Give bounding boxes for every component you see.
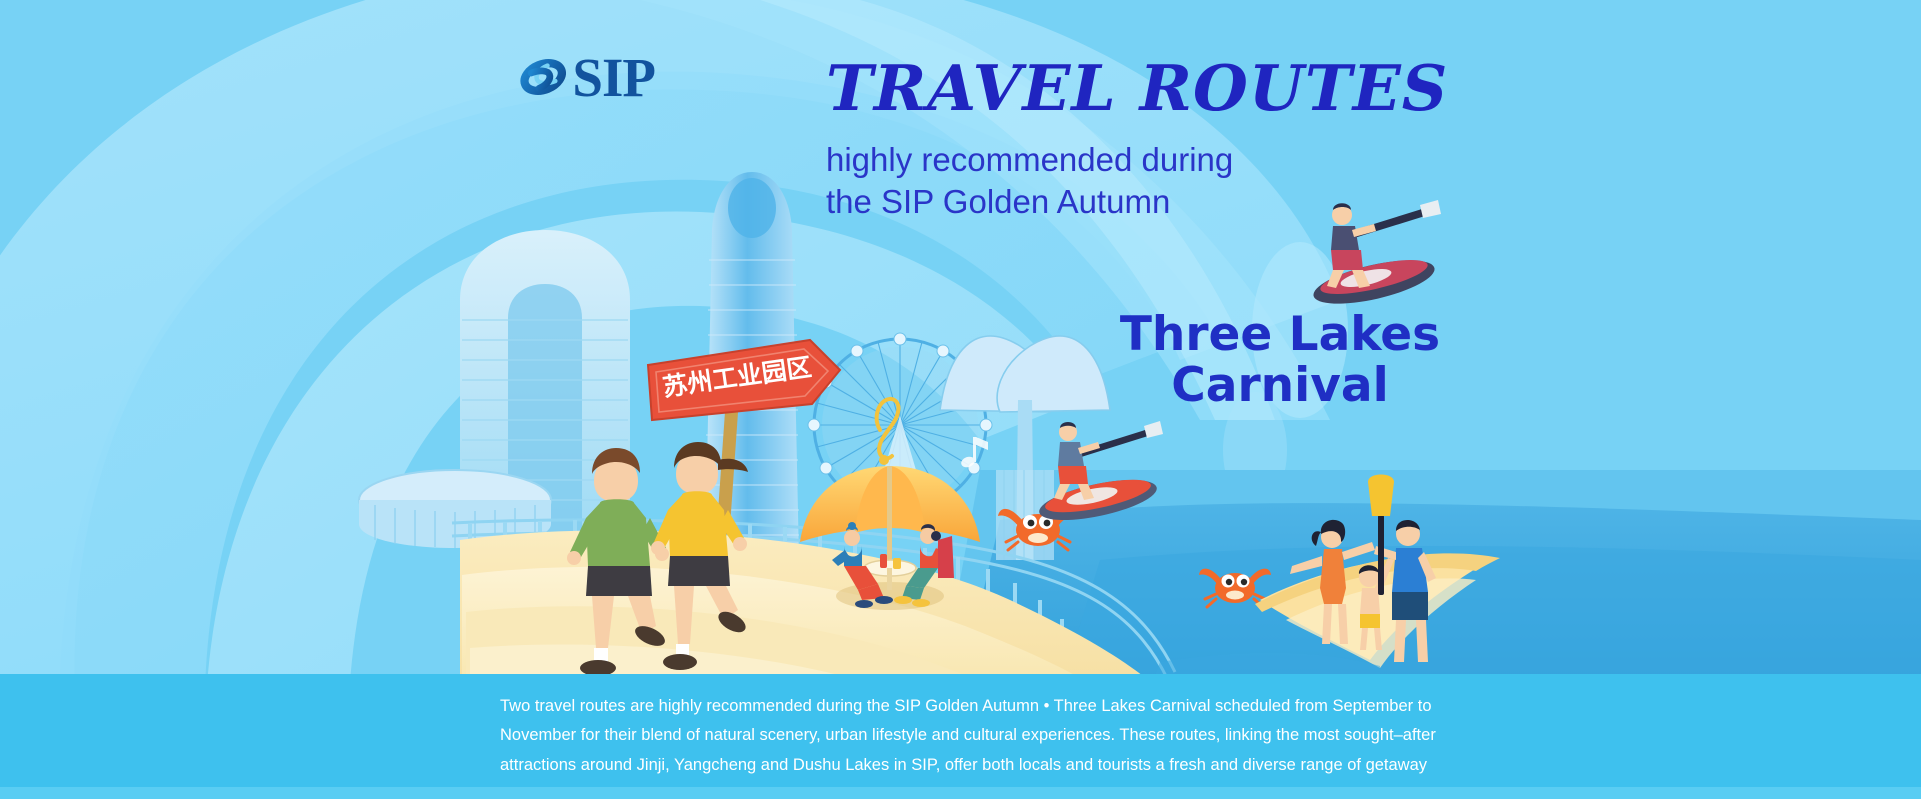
footer-band: Two travel routes are highly recommended… [0, 674, 1921, 787]
footer-description: Two travel routes are highly recommended… [500, 692, 1440, 799]
illustration-scene: 苏州工业园区 [0, 0, 1921, 686]
bottom-accent-strip [0, 787, 1921, 799]
paddleboarder-upper [1310, 200, 1441, 313]
poster-canvas: SIP TRAVEL ROUTES highly recommended dur… [0, 0, 1921, 799]
